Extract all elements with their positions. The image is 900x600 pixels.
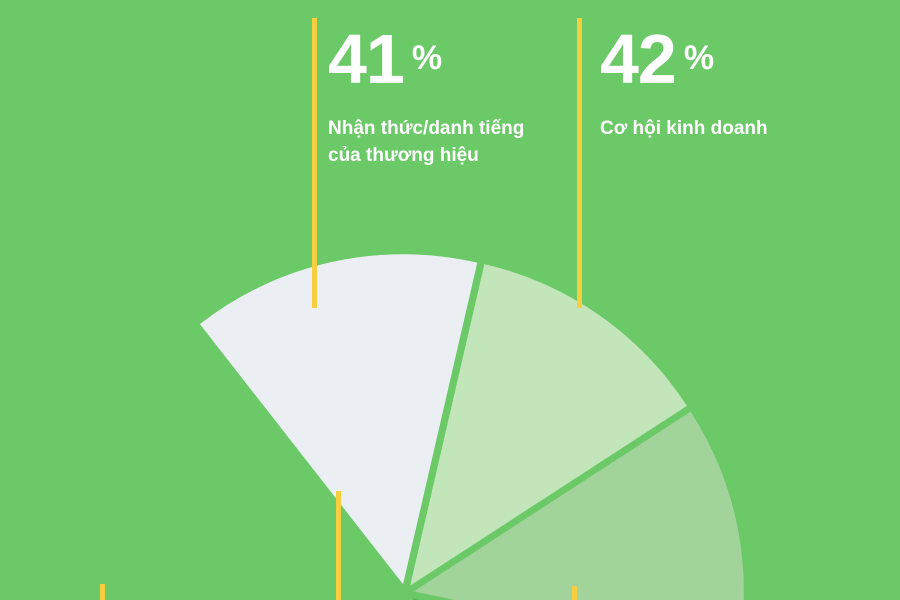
callout-business-value: 42% (600, 26, 890, 93)
infographic-canvas: 41% Nhận thức/danh tiếng của thương hiệu… (0, 0, 900, 600)
pie-slice-group (200, 254, 744, 600)
leader-line-lower-mid (336, 491, 341, 600)
callout-awareness-description: Nhận thức/danh tiếng của thương hiệu (328, 115, 578, 170)
callout-business-number: 42 (600, 20, 676, 98)
callout-awareness: 41% Nhận thức/danh tiếng của thương hiệu (328, 26, 578, 170)
leader-line-lower-left (100, 584, 105, 600)
leader-line-awareness (312, 18, 317, 308)
callout-awareness-value: 41% (328, 26, 578, 93)
callout-business-description: Cơ hội kinh doanh (600, 115, 890, 143)
percent-symbol-icon: % (412, 39, 442, 77)
callout-business: 42% Cơ hội kinh doanh (600, 26, 890, 142)
callout-awareness-number: 41 (328, 20, 404, 98)
percent-symbol-icon: % (684, 39, 714, 77)
leader-line-lower-right (572, 586, 577, 600)
